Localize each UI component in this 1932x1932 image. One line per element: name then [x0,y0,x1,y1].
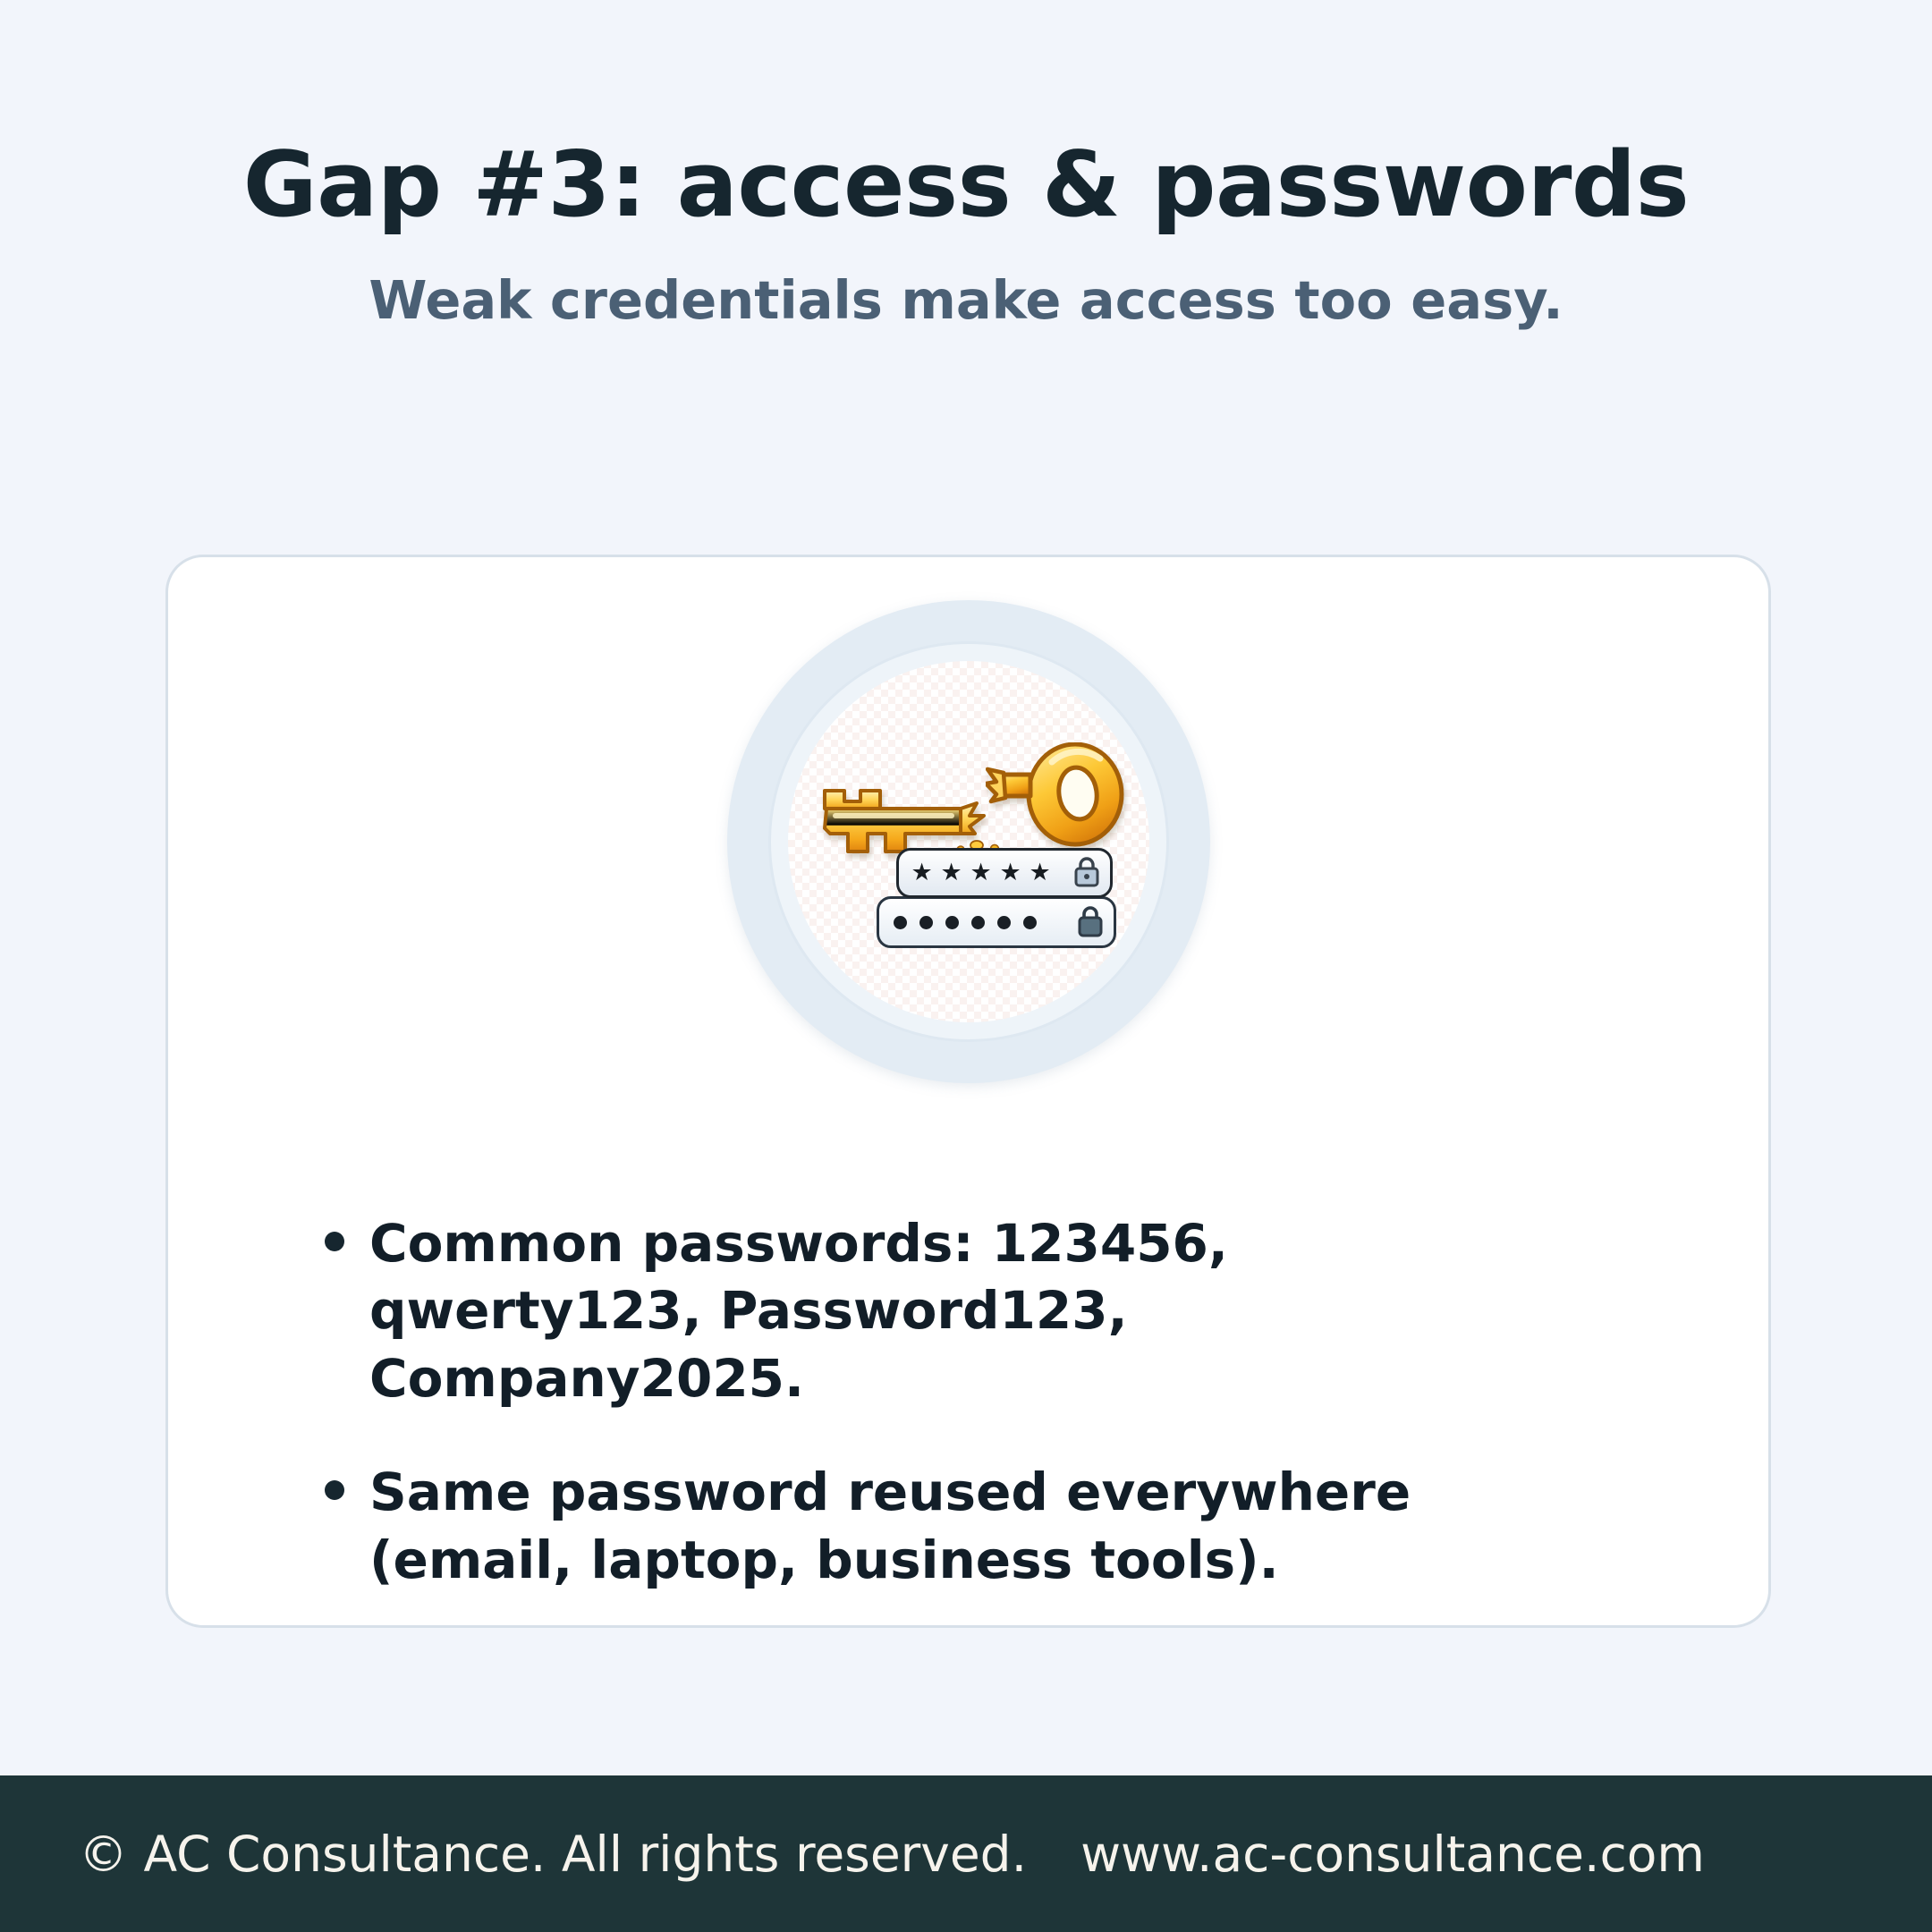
slide-footer: © AC Consultance. All rights reserved. w… [0,1775,1932,1932]
star-mask-icon: ★ [970,862,992,884]
password-field-stars[interactable]: ★ ★ ★ ★ ★ [896,848,1113,898]
list-item: Same password reused everywhere (email, … [325,1459,1648,1594]
dot-mask-icon [945,916,959,929]
dot-mask-icon [971,916,985,929]
star-mask-icon: ★ [941,862,962,884]
broken-key-password-illustration: ★ ★ ★ ★ ★ [821,730,1116,953]
bullet-marker-icon [325,1232,344,1251]
star-mask-icon: ★ [1000,862,1021,884]
dot-mask-icon [919,916,933,929]
content-card: ★ ★ ★ ★ ★ [165,555,1771,1628]
bullet-list: Common passwords: 123456, qwerty123, Pas… [325,1210,1648,1594]
illustration-ring-inner: ★ ★ ★ ★ ★ [768,641,1169,1042]
illustration-wrap: ★ ★ ★ ★ ★ [168,600,1768,1083]
footer-website[interactable]: www.ac-consultance.com [1080,1826,1705,1883]
star-mask-icon: ★ [911,862,933,884]
dot-mask-icon [997,916,1011,929]
page-subtitle: Weak credentials make access too easy. [0,269,1932,333]
list-item: Common passwords: 123456, qwerty123, Pas… [325,1210,1648,1412]
slide-header: Gap #3: access & passwords Weak credenti… [0,134,1932,333]
footer-copyright: © AC Consultance. All rights reserved. [79,1826,1027,1883]
bullet-text: Common passwords: 123456, qwerty123, Pas… [369,1210,1264,1412]
padlock-dark-icon [1074,902,1106,942]
slide-root: Gap #3: access & passwords Weak credenti… [0,0,1932,1932]
page-title: Gap #3: access & passwords [0,134,1932,235]
star-mask-icon: ★ [1030,862,1051,884]
illustration-ring-outer: ★ ★ ★ ★ ★ [727,600,1210,1083]
password-mask-stars: ★ ★ ★ ★ ★ [911,862,1051,884]
password-mask-dots [894,916,1037,929]
bullet-text: Same password reused everywhere (email, … [369,1459,1541,1594]
padlock-light-icon [1072,854,1102,892]
dot-mask-icon [1023,916,1037,929]
illustration-canvas: ★ ★ ★ ★ ★ [788,661,1149,1022]
password-field-dots[interactable] [877,896,1116,948]
bullet-marker-icon [325,1480,344,1500]
broken-key-bow-icon [986,742,1125,864]
dot-mask-icon [894,916,907,929]
